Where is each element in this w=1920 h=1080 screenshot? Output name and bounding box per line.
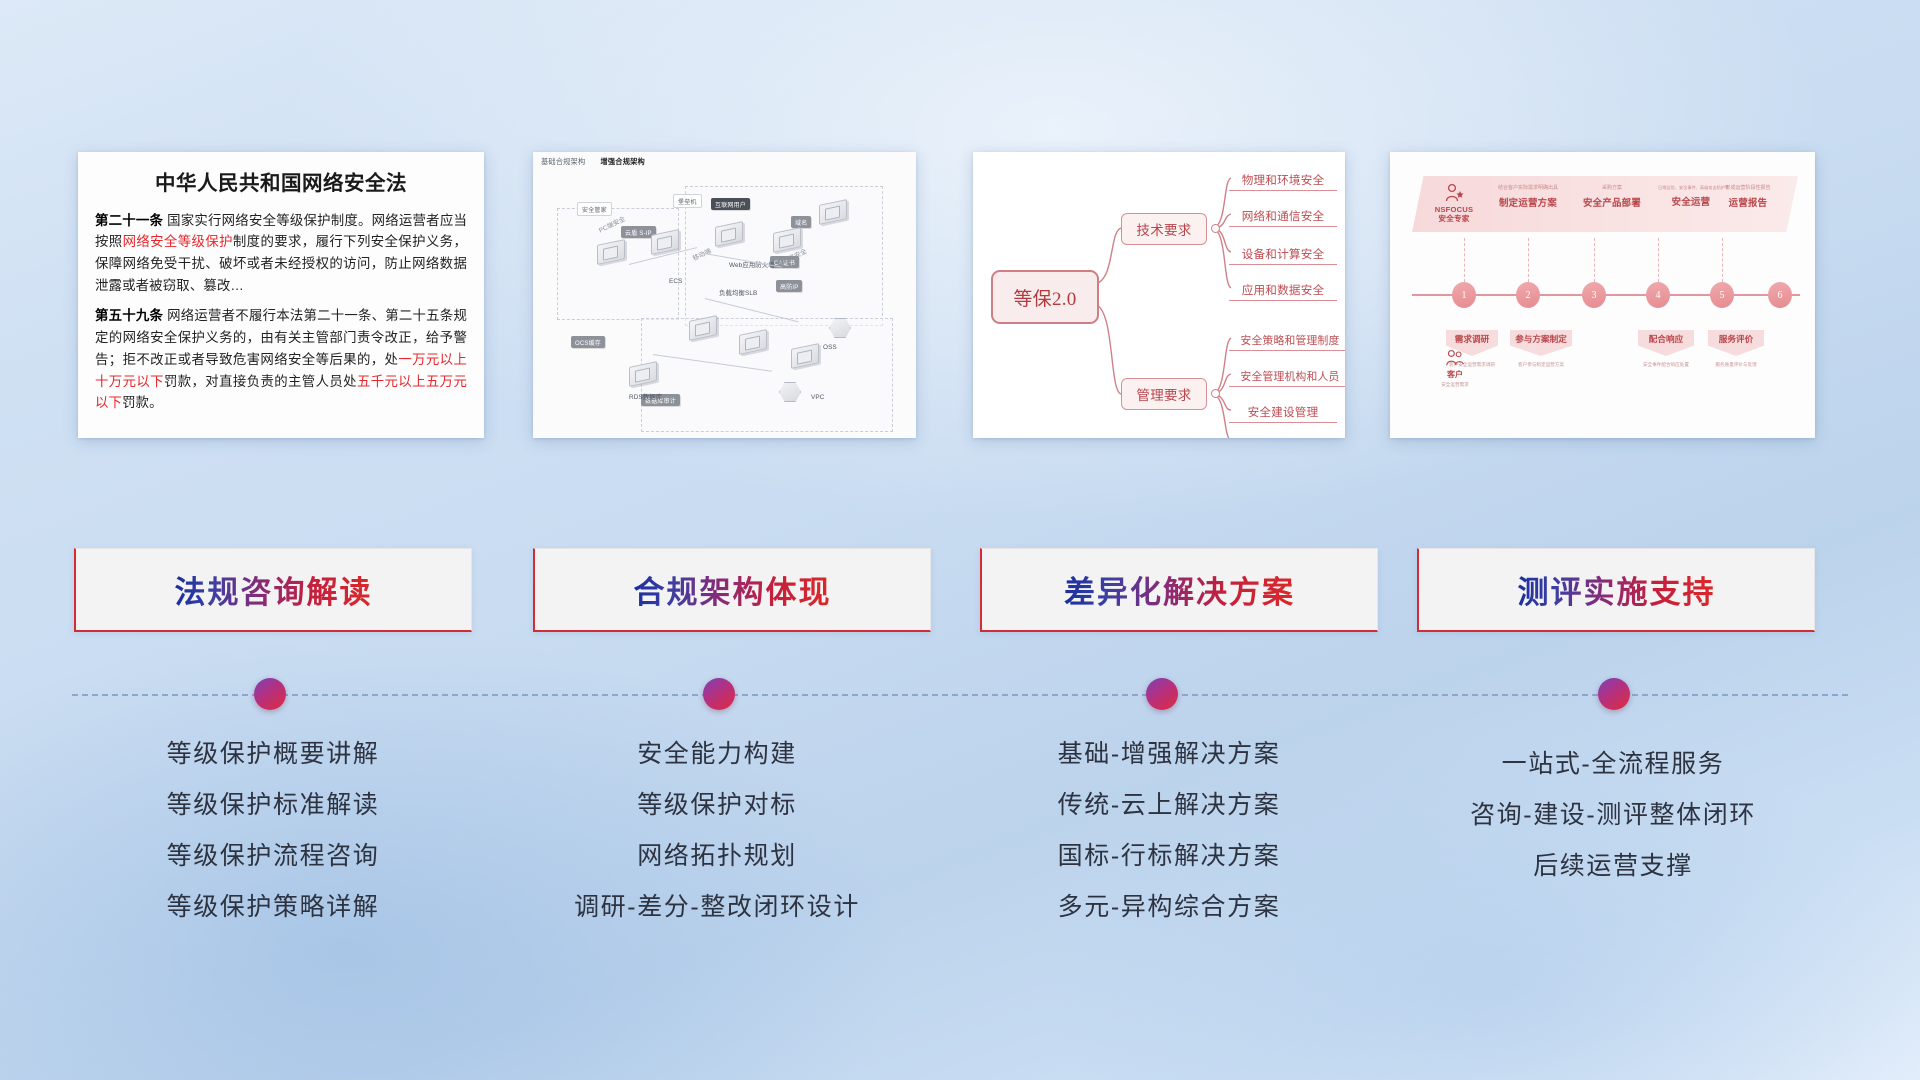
storage-icon [779,382,801,402]
label-oss: OSS [823,344,837,351]
nsfocus-marker: 1 [1452,282,1476,308]
list-item: 等级保护对标 [518,793,916,818]
timeline-dot-1[interactable] [254,678,286,710]
nsfocus-tick [1594,238,1596,282]
section-title-text: 差异化解决方案 [1064,567,1295,612]
section-items-1: 等级保护概要讲解 等级保护标准解读 等级保护流程咨询 等级保护策略详解 [74,742,472,946]
nsfocus-step-sub: 采购方案 [1574,186,1650,192]
nsfocus-expert: NSFOCUS 安全专家 [1428,182,1480,224]
nsfocus-marker: 5 [1710,282,1734,308]
nsfocus-flag-note: 安全事件配合响应处置 [1634,362,1698,368]
node-internet-users: 互联网用户 [711,198,750,210]
mindmap-node-dot [1211,224,1220,233]
nsfocus-step-title: 安全运营 [1658,194,1724,208]
storage-icon [829,318,851,338]
tab-enhanced-architecture[interactable]: 增强合规架构 [601,157,645,166]
mindmap-node-dot [1211,389,1220,398]
list-item: 传统-云上解决方案 [970,793,1368,818]
law-text: 罚款。 [122,395,163,410]
list-item: 基础-增强解决方案 [970,742,1368,767]
nsfocus-tick [1464,238,1466,282]
list-item: 等级保护概要讲解 [74,742,472,767]
mindmap-leaf: 安全建设管理 [1229,398,1337,423]
server-icon [629,364,657,384]
mindmap-leaf: 安全策略和管理制度 [1229,326,1345,351]
list-item: 一站式-全流程服务 [1414,752,1812,777]
mindmap-leaf: 安全运维管理 [1229,430,1337,438]
tab-basic-architecture[interactable]: 基础合规架构 [541,157,585,166]
nsfocus-step-sub: 结合客户实际需求明确出具 [1490,186,1566,192]
label-slb: 负载均衡SLB [719,288,757,297]
server-icon [597,242,625,262]
node-ocs-cache: OCS缓存 [571,336,605,348]
mindmap-leaf: 设备和计算安全 [1229,240,1337,265]
server-icon [651,232,679,252]
mindmap-branch-management: 管理要求 [1121,378,1207,410]
diagram-group-center [641,318,893,432]
nsfocus-flag: 参与方案制定 [1510,330,1572,356]
nsfocus-customer-name: 客户 [1426,369,1484,380]
architecture-diagram: 基础合规架构 增强合规架构 互联网用户 云盾 S-IP 域名 CA证书 高防IP… [533,152,916,438]
node-security-butler: 安全管家 [577,202,612,216]
section-items-3: 基础-增强解决方案 传统-云上解决方案 国标-行标解决方案 多元-异构综合方案 [970,742,1368,946]
section-title-box-3[interactable]: 差异化解决方案 [980,548,1378,632]
nsfocus-tick [1722,238,1724,282]
person-star-icon [1443,182,1465,204]
nsfocus-step-title: 运营报告 [1720,195,1776,209]
timeline-dashed-line [72,694,1848,696]
section-title-text: 测评实施支持 [1518,567,1716,612]
node-bastion-host: 堡垒机 [673,194,702,208]
server-icon [819,202,847,222]
card-dengbao-mindmap[interactable]: 等保2.0 技术要求 物理和环境安全 网络和通信安全 设备和计算安全 应用和数据… [973,152,1345,438]
nsfocus-step: 日常运验、安全事件、高级攻击防护等 安全运营 [1658,186,1724,208]
nsfocus-marker: 3 [1582,282,1606,308]
card-compliance-architecture[interactable]: 基础合规架构 增强合规架构 互联网用户 云盾 S-IP 域名 CA证书 高防IP… [533,152,916,438]
list-item: 等级保护策略详解 [74,895,472,920]
section-items-2: 安全能力构建 等级保护对标 网络拓扑规划 调研-差分-整改闭环设计 [518,742,916,946]
list-item: 调研-差分-整改闭环设计 [518,895,916,920]
law-article-label-21: 第二十一条 [95,213,163,228]
mindmap: 等保2.0 技术要求 物理和环境安全 网络和通信安全 设备和计算安全 应用和数据… [973,152,1345,438]
nsfocus-tick [1658,238,1660,282]
nsfocus-step: 采购方案 安全产品部署 [1574,186,1650,209]
mindmap-leaf: 网络和通信安全 [1229,202,1337,227]
mindmap-leaf: 物理和环境安全 [1229,166,1337,191]
law-body: 中华人民共和国网络安全法 第二十一条 国家实行网络安全等级保护制度。网络运营者应… [78,152,484,438]
nsfocus-tick [1528,238,1530,282]
label-vpc: VPC [811,394,824,401]
list-item: 咨询-建设-测评整体闭环 [1414,803,1812,828]
mindmap-root: 等保2.0 [991,270,1099,324]
nsfocus-expert-role: 安全专家 [1428,214,1480,223]
label-ecs: ECS [669,278,682,285]
section-title-box-1[interactable]: 法规咨询解读 [74,548,472,632]
server-icon [773,230,801,250]
list-item: 网络拓扑规划 [518,844,916,869]
nsfocus-customer-sub: 安全运营需求 [1426,382,1484,388]
node-cloud-sip: 域名 [791,216,811,228]
nsfocus-flag-note: 客户参与制定运营方案 [1506,362,1576,368]
card-cybersecurity-law[interactable]: 中华人民共和国网络安全法 第二十一条 国家实行网络安全等级保护制度。网络运营者应… [78,152,484,438]
law-text-highlight: 网络安全等级保护 [123,234,233,249]
mindmap-leaf: 应用和数据安全 [1229,276,1337,301]
law-text: 罚款，对直接负责的主管人员处 [164,374,357,389]
nsfocus-marker: 2 [1516,282,1540,308]
label-rds: RDS数据库 [629,392,662,401]
slide-canvas: 中华人民共和国网络安全法 第二十一条 国家实行网络安全等级保护制度。网络运营者应… [0,0,1920,1080]
law-article-label-59: 第五十九条 [95,308,163,323]
timeline-dot-3[interactable] [1146,678,1178,710]
server-icon [715,224,743,244]
nsfocus-customer: 客户 安全运营需求 [1426,348,1484,388]
section-title-text: 法规咨询解读 [175,567,373,612]
list-item: 等级保护流程咨询 [74,844,472,869]
list-item: 国标-行标解决方案 [970,844,1368,869]
top-cards-row: 中华人民共和国网络安全法 第二十一条 国家实行网络安全等级保护制度。网络运营者应… [0,0,1920,460]
nsfocus-step: 形成运营阶段性报告 运营报告 [1720,186,1776,209]
nsfocus-marker: 4 [1646,282,1670,308]
timeline-dot-2[interactable] [703,678,735,710]
section-title-box-4[interactable]: 测评实施支持 [1417,548,1815,632]
section-title-box-2[interactable]: 合规架构体现 [533,548,931,632]
mindmap-branch-technical: 技术要求 [1121,213,1207,245]
nsfocus-step-title: 安全产品部署 [1574,195,1650,209]
section-items-4: 一站式-全流程服务 咨询-建设-测评整体闭环 后续运营支撑 [1414,752,1812,905]
timeline-dot-4[interactable] [1598,678,1630,710]
list-item: 多元-异构综合方案 [970,895,1368,920]
nsfocus-step: 结合客户实际需求明确出具 制定运营方案 [1490,186,1566,209]
mindmap-leaf: 安全管理机构和人员 [1229,362,1345,387]
nsfocus-step-sub: 形成运营阶段性报告 [1720,186,1776,192]
list-item: 安全能力构建 [518,742,916,767]
law-title: 中华人民共和国网络安全法 [95,172,467,197]
nsfocus-flag: 配合响应 [1638,330,1694,356]
architecture-tabs[interactable]: 基础合规架构 增强合规架构 [541,157,658,167]
nsfocus-marker: 6 [1768,282,1792,308]
nsfocus-step-title: 制定运营方案 [1490,195,1566,209]
nsfocus-flag-note: 服务质量评价与反馈 [1704,362,1768,368]
nsfocus-timeline: NSFOCUS 安全专家 结合客户实际需求明确出具 制定运营方案 采购方案 安全… [1390,152,1815,438]
people-icon [1445,348,1465,368]
law-paragraph-21: 第二十一条 国家实行网络安全等级保护制度。网络运营者应当按照网络安全等级保护制度… [95,210,467,297]
list-item: 等级保护标准解读 [74,793,472,818]
architecture-canvas: 互联网用户 云盾 S-IP 域名 CA证书 高防IP OCS缓存 数据库审计 安… [533,168,916,438]
law-paragraph-59: 第五十九条 网络运营者不履行本法第二十一条、第二十五条规定的网络安全保护义务的，… [95,305,467,414]
nsfocus-flag: 服务评价 [1708,330,1764,356]
nsfocus-step-sub: 日常运验、安全事件、高级攻击防护等 [1658,186,1724,191]
server-icon [791,346,819,366]
server-icon [689,318,717,338]
section-title-text: 合规架构体现 [634,567,832,612]
server-icon [739,332,767,352]
node-anti-ddos-ip: 高防IP [776,280,802,292]
card-nsfocus-service-timeline[interactable]: NSFOCUS 安全专家 结合客户实际需求明确出具 制定运营方案 采购方案 安全… [1390,152,1815,438]
list-item: 后续运营支撑 [1414,854,1812,879]
